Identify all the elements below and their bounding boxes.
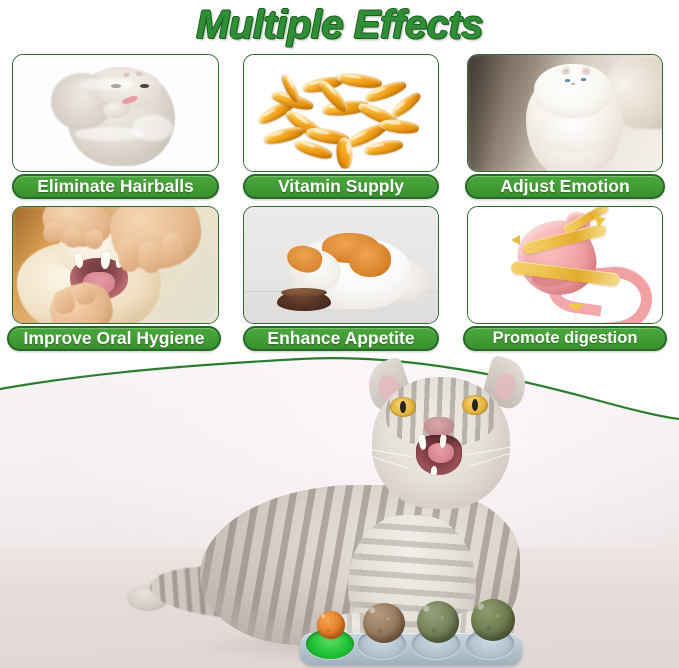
cat-grooming-photo xyxy=(13,55,218,171)
benefit-label: Enhance Appetite xyxy=(243,326,439,351)
green-catnip-ball-1 xyxy=(417,601,459,643)
catnip-ball-tray xyxy=(300,619,522,667)
benefit-card-vitamin-supply: Vitamin Supply xyxy=(243,54,439,202)
stomach-ribbon-illustration xyxy=(468,207,662,323)
benefit-card-improve-oral-hygiene: Improve Oral Hygiene xyxy=(12,206,219,354)
benefit-label: Eliminate Hairballs xyxy=(12,174,219,199)
benefit-label: Adjust Emotion xyxy=(465,174,665,199)
header: Multiple Effects xyxy=(0,0,679,52)
calm-cat-photo xyxy=(468,55,662,171)
card-image-frame xyxy=(243,206,439,324)
cat-teeth-check-photo xyxy=(13,207,218,323)
benefit-label: Vitamin Supply xyxy=(243,174,439,199)
benefit-label: Promote digestion xyxy=(463,326,667,351)
cat-eating-photo xyxy=(244,207,438,323)
hero-product-photo xyxy=(0,355,679,668)
benefit-label: Improve Oral Hygiene xyxy=(7,326,221,351)
card-image-frame xyxy=(243,54,439,172)
card-image-frame xyxy=(12,206,219,324)
benefit-card-promote-digestion: Promote digestion xyxy=(467,206,663,354)
card-image-frame xyxy=(467,206,663,324)
brown-catnip-ball xyxy=(363,603,405,643)
vitamin-capsules-photo xyxy=(244,55,438,171)
benefit-card-grid: Eliminate Hairballs xyxy=(0,50,679,355)
benefit-card-eliminate-hairballs: Eliminate Hairballs xyxy=(12,54,219,202)
page-title: Multiple Effects xyxy=(0,2,679,48)
orange-catnip-ball xyxy=(317,611,345,639)
benefit-card-adjust-emotion: Adjust Emotion xyxy=(467,54,663,202)
green-catnip-ball-2 xyxy=(471,599,515,641)
card-image-frame xyxy=(467,54,663,172)
card-image-frame xyxy=(12,54,219,172)
benefit-card-enhance-appetite: Enhance Appetite xyxy=(243,206,439,354)
product-infographic: Multiple Effects xyxy=(0,0,679,668)
